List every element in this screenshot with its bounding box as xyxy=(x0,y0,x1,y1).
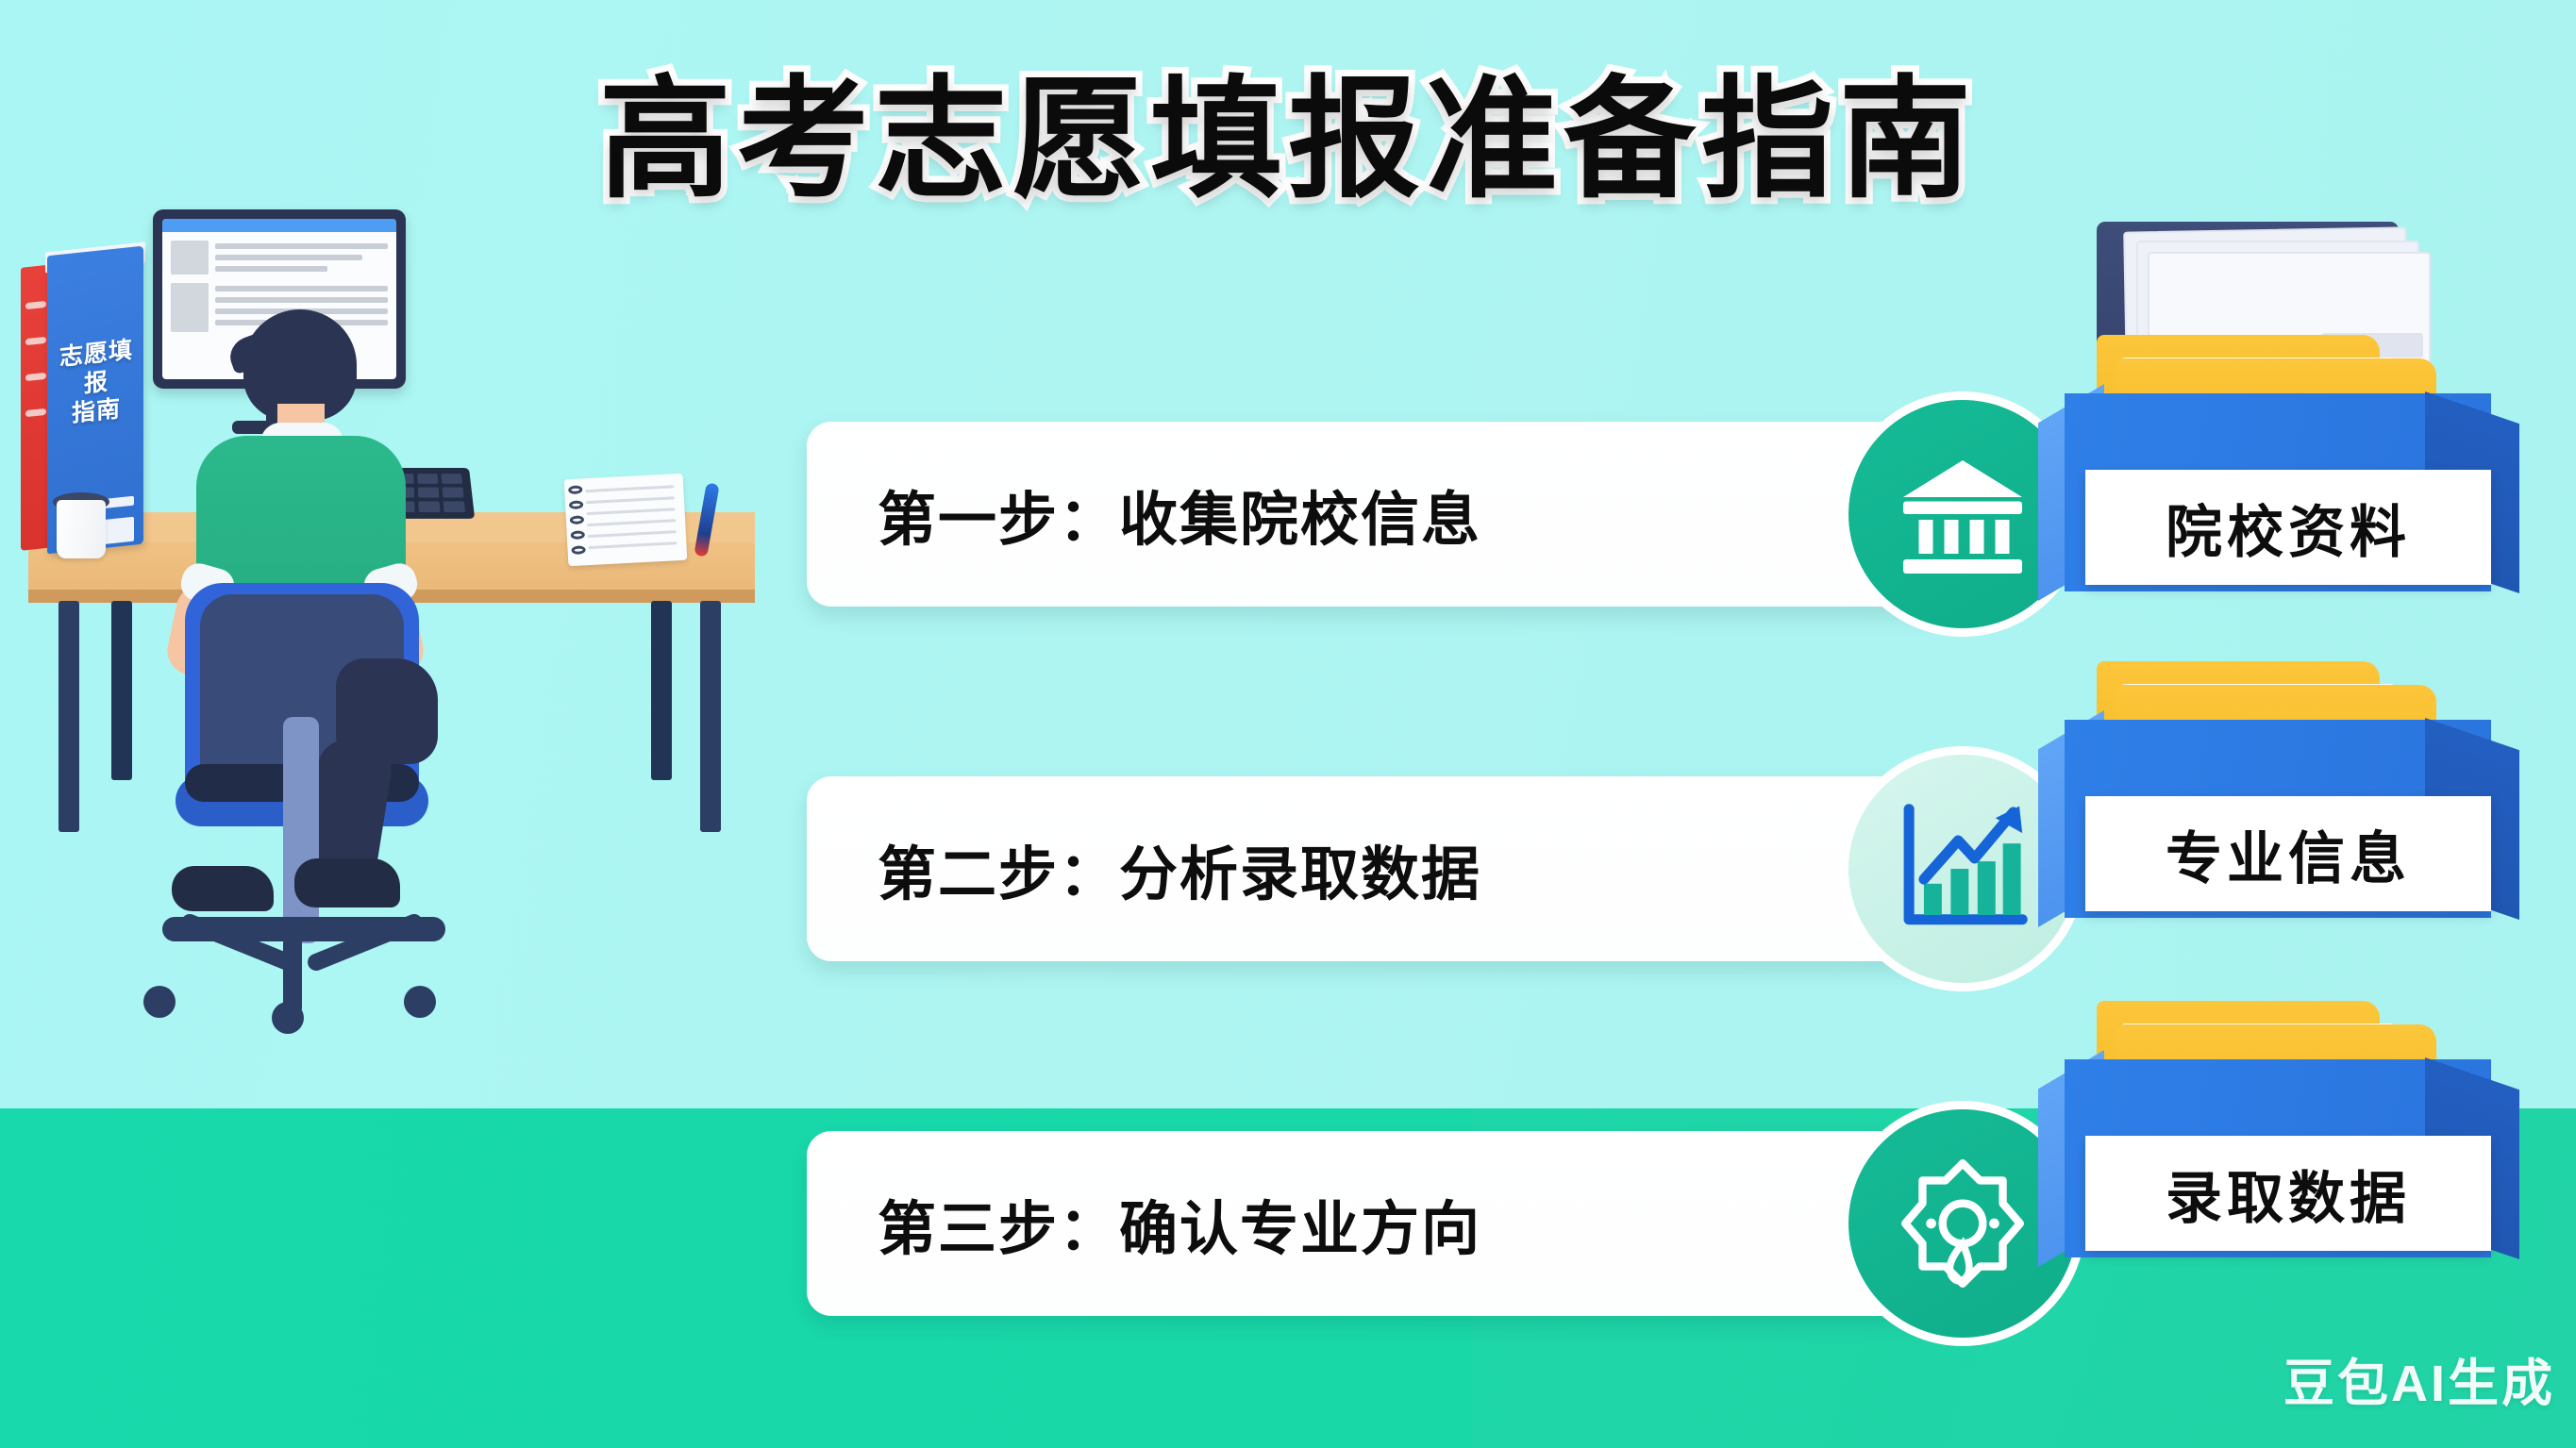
notebook-line xyxy=(586,496,675,504)
notebook-line xyxy=(588,530,677,538)
book-title: 志愿填报 指南 xyxy=(55,335,138,430)
book-title-line1: 志愿填报 xyxy=(55,335,138,401)
notebook-lines xyxy=(585,485,677,549)
notebook-spiral xyxy=(568,485,586,555)
drawer-label-plate-1: 院校资料 xyxy=(2085,470,2491,585)
text-line xyxy=(215,297,388,303)
content-row xyxy=(171,241,388,275)
desk-leg-left xyxy=(59,601,79,832)
coffee-cup xyxy=(57,500,106,558)
key xyxy=(418,501,440,512)
desk-leg-left-back xyxy=(111,601,132,780)
ai-watermark: 豆包AI生成 xyxy=(2283,1341,2555,1416)
file-cabinet: 院校资料 专业信息 录取数据 xyxy=(2038,212,2576,1448)
step-card-1[interactable]: 第一步：收集院校信息 xyxy=(807,422,1977,607)
spiral-ring xyxy=(571,545,585,555)
text-line xyxy=(215,286,388,291)
drawer-label-1: 院校资料 xyxy=(2166,487,2411,569)
notebook-line xyxy=(587,519,676,526)
content-thumbnail xyxy=(171,241,209,275)
chair-stem xyxy=(283,717,319,943)
drawer-label-2: 专业信息 xyxy=(2166,813,2411,895)
chair-caster xyxy=(272,1002,304,1034)
notebook-line xyxy=(587,508,676,515)
desk-leg-right-back xyxy=(651,601,672,780)
browser-header-bar xyxy=(162,219,396,232)
content-thumbnail xyxy=(171,283,209,332)
step-3-label: 第三步：确认专业方向 xyxy=(878,1181,1481,1266)
step-1-label: 第一步：收集院校信息 xyxy=(878,472,1481,557)
key xyxy=(443,487,464,497)
chair-caster xyxy=(404,986,436,1018)
key xyxy=(418,487,440,497)
key xyxy=(443,501,465,512)
key xyxy=(442,474,463,484)
spiral-ring xyxy=(570,515,584,524)
spiral-ring xyxy=(569,500,583,509)
spiral-ring xyxy=(571,530,585,540)
person-shoe-right xyxy=(294,858,400,907)
spiral-ring xyxy=(568,485,582,494)
infographic-canvas: 高考志愿填报准备指南 志愿填报 指南 xyxy=(0,0,2576,1448)
drawer-label-plate-2: 专业信息 xyxy=(2085,796,2491,911)
desk-leg-right xyxy=(700,601,721,832)
drawer-label-plate-3: 录取数据 xyxy=(2085,1136,2491,1251)
notebook-line xyxy=(588,541,677,549)
step-2-label: 第二步：分析录取数据 xyxy=(878,826,1481,911)
step-card-3[interactable]: 第三步：确认专业方向 xyxy=(807,1131,1977,1316)
text-line xyxy=(215,255,362,260)
spiral-notebook xyxy=(564,474,688,566)
person-shoe-left xyxy=(172,866,274,911)
compass-target-glyph xyxy=(1891,1152,2034,1295)
growth-chart-glyph xyxy=(1888,794,2037,943)
drawer-label-3: 录取数据 xyxy=(2166,1153,2411,1235)
bank-institution-glyph xyxy=(1892,443,2033,585)
step-card-2[interactable]: 第二步：分析录取数据 xyxy=(807,776,1977,961)
content-lines xyxy=(215,241,388,275)
study-desk-illustration: 志愿填报 指南 xyxy=(0,189,774,1448)
notebook-line xyxy=(585,485,674,492)
text-line xyxy=(215,266,327,272)
key xyxy=(417,474,438,484)
chair-caster xyxy=(143,986,176,1018)
text-line xyxy=(215,243,388,249)
